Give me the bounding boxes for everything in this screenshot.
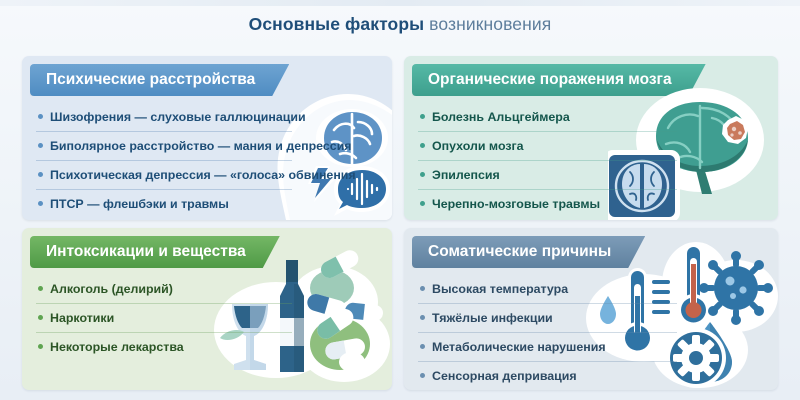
list-item-label: Наркотики [50, 311, 114, 325]
list-item[interactable]: Эпилепсия [418, 160, 768, 189]
list-intoxications-substances: Алкоголь (делирий) Наркотики Некоторые л… [36, 274, 382, 361]
card-header-intoxications-substances: Интоксикации и вещества [30, 236, 280, 268]
list-item-label: ПТСР — флешбэки и травмы [50, 197, 229, 211]
bullet-dot-icon [420, 201, 425, 206]
list-item-label: Тяжёлые инфекции [432, 311, 553, 325]
bullet-dot-icon [420, 373, 425, 378]
bullet-dot-icon [38, 286, 43, 291]
card-psychiatric-disorders[interactable]: Психические расстройства [22, 56, 392, 220]
bullet-dot-icon [420, 344, 425, 349]
list-item-label: Сенсорная депривация [432, 369, 577, 383]
list-item-label: Шизофрения — слуховые галлюцинации [50, 110, 306, 124]
list-item-label: Психотическая депрессия — «голоса» обвин… [50, 168, 356, 182]
list-item[interactable]: Шизофрения — слуховые галлюцинации [36, 102, 382, 131]
list-item[interactable]: Метаболические нарушения [418, 332, 768, 361]
list-item-label: Высокая температура [432, 282, 568, 296]
list-item-label: Метаболические нарушения [432, 340, 606, 354]
bullet-dot-icon [38, 172, 43, 177]
bullet-dot-icon [420, 172, 425, 177]
card-header-organic-brain-lesions: Органические поражения мозга [412, 64, 706, 96]
list-item-label: Алкоголь (делирий) [50, 282, 173, 296]
infographic-page: Основные факторы возникновения Психическ… [0, 0, 800, 400]
list-item-label: Черепно-мозговые травмы [432, 197, 600, 211]
card-somatic-causes[interactable]: Соматические причины [404, 228, 778, 390]
list-psychiatric-disorders: Шизофрения — слуховые галлюцинации Бипол… [36, 102, 382, 218]
list-item[interactable]: Тяжёлые инфекции [418, 303, 768, 332]
bullet-dot-icon [420, 286, 425, 291]
card-organic-brain-lesions[interactable]: Органические поражения мозга [404, 56, 778, 220]
list-item[interactable]: Некоторые лекарства [36, 332, 382, 361]
bullet-dot-icon [420, 143, 425, 148]
list-item[interactable]: Наркотики [36, 303, 382, 332]
bullet-dot-icon [38, 315, 43, 320]
list-item-label: Биполярное расстройство — мания и депрес… [50, 139, 352, 153]
bullet-dot-icon [420, 114, 425, 119]
list-item[interactable]: Высокая температура [418, 274, 768, 303]
list-item[interactable]: Черепно-мозговые травмы [418, 189, 768, 218]
list-item[interactable]: Биполярное расстройство — мания и депрес… [36, 131, 382, 160]
list-item[interactable]: Сенсорная депривация [418, 361, 768, 390]
list-somatic-causes: Высокая температура Тяжёлые инфекции Мет… [418, 274, 768, 390]
list-item[interactable]: ПТСР — флешбэки и травмы [36, 189, 382, 218]
list-item-label: Болезнь Альцгеймера [432, 110, 570, 124]
bullet-dot-icon [420, 315, 425, 320]
card-header-psychiatric-disorders: Психические расстройства [30, 64, 289, 96]
card-intoxications-substances[interactable]: Интоксикации и вещества [22, 228, 392, 390]
list-item-label: Эпилепсия [432, 168, 500, 182]
card-header-somatic-causes: Соматические причины [412, 236, 645, 268]
bullet-dot-icon [38, 201, 43, 206]
list-item[interactable]: Алкоголь (делирий) [36, 274, 382, 303]
cards-grid: Психические расстройства [0, 0, 800, 400]
list-organic-brain-lesions: Болезнь Альцгеймера Опухоли мозга Эпилеп… [418, 102, 768, 218]
list-item-label: Опухоли мозга [432, 139, 524, 153]
list-item-label: Некоторые лекарства [50, 340, 184, 354]
bullet-dot-icon [38, 344, 43, 349]
bullet-dot-icon [38, 114, 43, 119]
list-item[interactable]: Психотическая депрессия — «голоса» обвин… [36, 160, 382, 189]
list-item[interactable]: Опухоли мозга [418, 131, 768, 160]
bullet-dot-icon [38, 143, 43, 148]
list-item[interactable]: Болезнь Альцгеймера [418, 102, 768, 131]
